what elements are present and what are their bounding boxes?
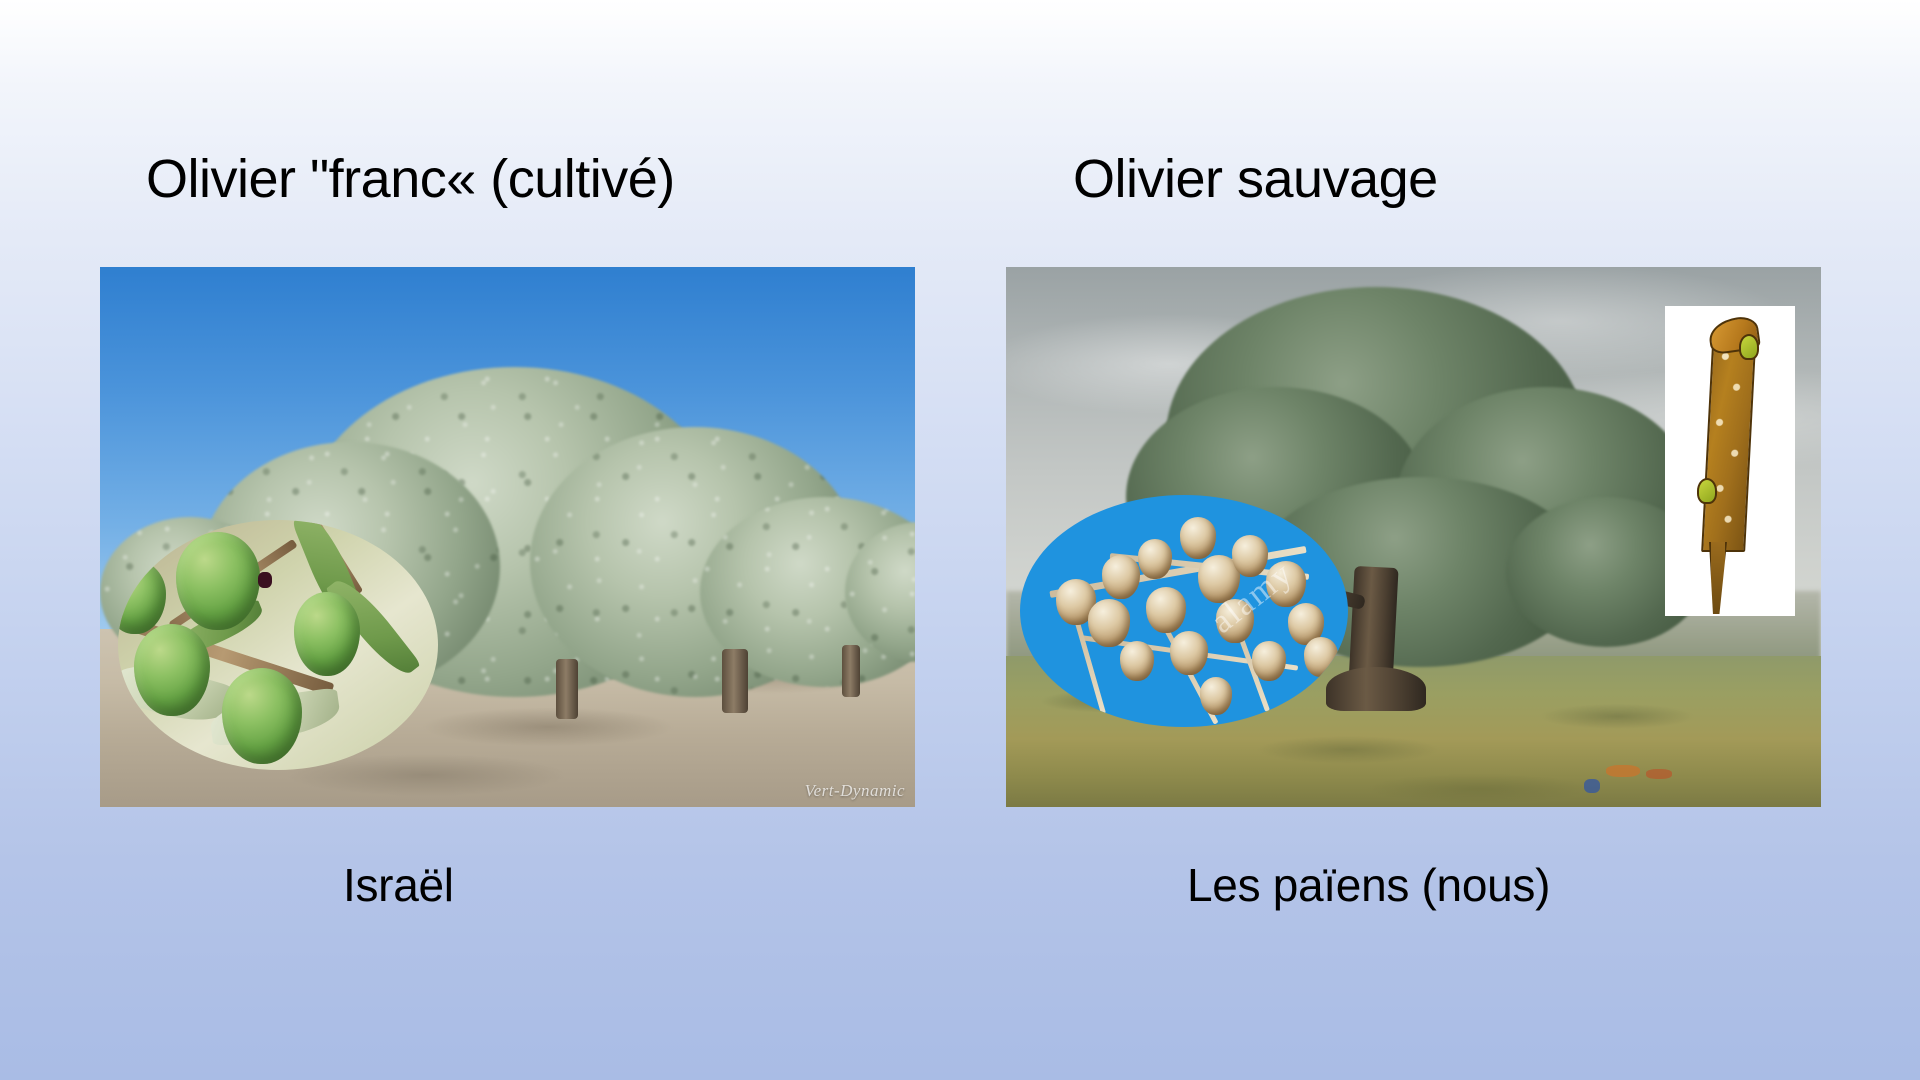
scion-wedge-point <box>1709 542 1727 614</box>
olive-fruit <box>294 592 360 676</box>
column-title-cultivated: Olivier "franc« (cultivé) <box>146 152 675 206</box>
olive-fruit <box>118 560 166 634</box>
wild-olive-tree-photo: alamy <box>1006 267 1821 807</box>
ground-debris <box>1646 769 1672 779</box>
ground-debris <box>1606 765 1640 777</box>
wild-olive-root-flare <box>1326 667 1426 711</box>
wild-olive-fruit <box>1200 677 1232 715</box>
green-olives-closeup <box>118 520 438 770</box>
column-caption-israel: Israël <box>343 862 454 908</box>
scion-bud <box>1739 334 1759 360</box>
olive-pit-speck <box>258 572 272 588</box>
olive-fruit <box>176 532 260 630</box>
wild-olive-fruit <box>1088 599 1130 647</box>
wild-olive-fruit-closeup: alamy <box>1020 495 1348 727</box>
olive-trunk <box>556 659 578 719</box>
wild-olive-fruit <box>1252 641 1286 681</box>
wild-olive-fruit <box>1304 637 1338 677</box>
olive-fruit <box>222 668 302 764</box>
column-caption-pagans: Les païens (nous) <box>1187 862 1550 908</box>
graft-scion-diagram <box>1665 306 1795 616</box>
olive-trunk <box>842 645 860 697</box>
wild-olive-fruit <box>1120 641 1154 681</box>
wild-olive-fruit <box>1170 631 1208 675</box>
olive-fruit <box>134 624 210 716</box>
cultivated-olive-grove-photo: Vert-Dynamic <box>100 267 915 807</box>
ground-debris <box>1584 779 1600 793</box>
slide-canvas: Olivier "franc« (cultivé) Olivier sauvag… <box>0 0 1920 1080</box>
wild-olive-fruit <box>1180 517 1216 559</box>
column-title-wild: Olivier sauvage <box>1073 152 1438 206</box>
scion-body <box>1701 328 1757 552</box>
wild-olive-fruit <box>1146 587 1186 633</box>
scion-bud <box>1697 478 1717 504</box>
photo-watermark: Vert-Dynamic <box>805 781 905 801</box>
wild-olive-fruit <box>1138 539 1172 579</box>
wild-olive-fruit <box>1102 555 1140 599</box>
olive-trunk <box>722 649 748 713</box>
